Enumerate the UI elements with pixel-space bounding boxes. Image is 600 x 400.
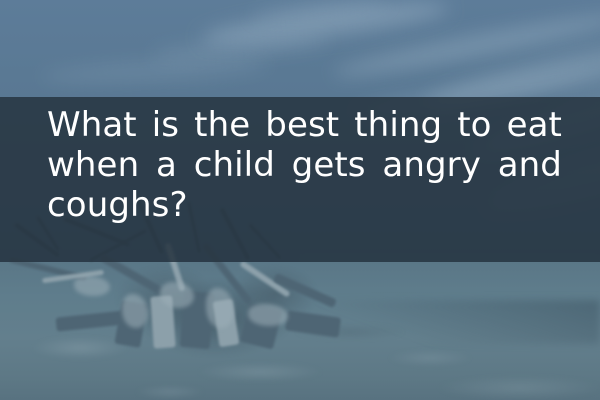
wood-highlight xyxy=(74,276,110,296)
wood-highlight xyxy=(248,304,288,326)
screenshot-canvas: What is the best thing to eat when a chi… xyxy=(0,0,600,400)
wood-highlight xyxy=(160,282,194,308)
caption-text: What is the best thing to eat when a chi… xyxy=(47,105,562,265)
